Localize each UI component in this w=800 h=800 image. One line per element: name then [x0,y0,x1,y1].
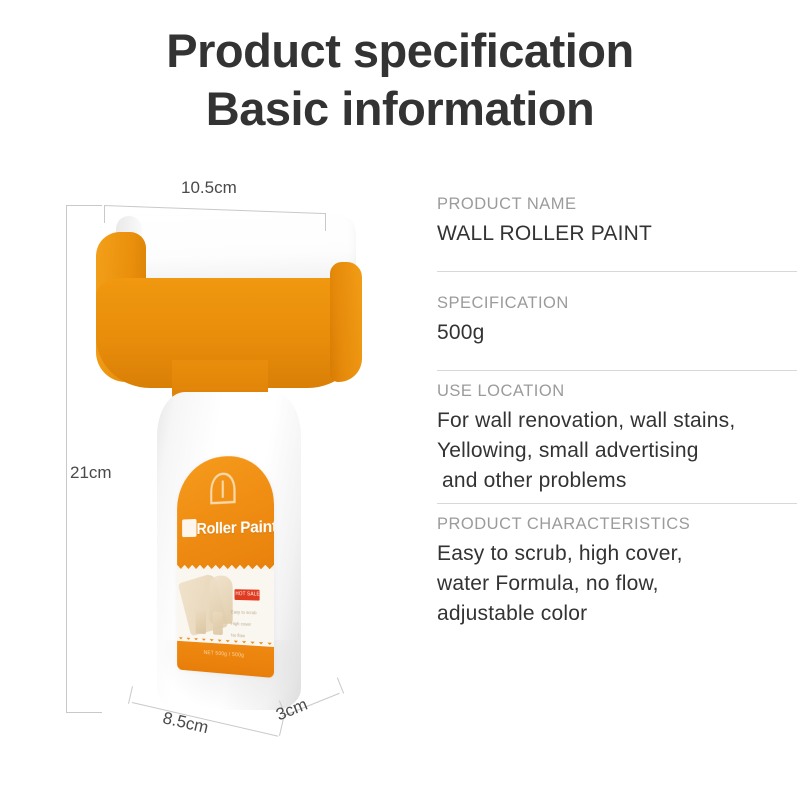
height-dimension-tick-bottom [66,712,102,713]
spec-label-product-characteristics: PRODUCT CHARACTERISTICS [437,513,797,535]
bottle-label: Roller Paint HOT SALE Easy to scrub High… [177,452,274,678]
height-dimension-tick-top [66,205,102,206]
spec-value-line: For wall renovation, wall stains, [437,406,797,436]
spec-value-product-name: WALL ROLLER PAINT [437,219,797,249]
spacer [437,496,797,503]
product-illustration: Roller Paint HOT SALE Easy to scrub High… [0,0,420,800]
spec-value-specification: 500g [437,318,797,348]
spec-value-use-location: For wall renovation, wall stains, Yellow… [437,406,797,496]
spec-label-specification: SPECIFICATION [437,292,797,314]
label-hot-sale-badge-text: HOT SALE [235,590,259,599]
spec-value-line: Yellowing, small advertising [437,436,797,466]
spec-value-line: Easy to scrub, high cover, [437,539,797,569]
spacer [437,504,797,513]
label-illustration-tube-2 [213,612,223,635]
spacer [437,249,797,271]
width-dimension-label: 10.5cm [181,178,237,198]
spec-value-line: 500g [437,318,797,348]
width-dimension-tick-right [325,213,326,231]
spec-row-use-location: USE LOCATION For wall renovation, wall s… [437,380,797,496]
specification-table: PRODUCT NAME WALL ROLLER PAINT SPECIFICA… [437,193,797,629]
spec-row-product-characteristics: PRODUCT CHARACTERISTICS Easy to scrub, h… [437,513,797,629]
roller-frame-lip [330,262,362,382]
height-dimension-label: 21cm [70,463,112,483]
spec-value-line: water Formula, no flow, [437,569,797,599]
product-spec-page: Product specification Basic information [0,0,800,800]
label-product-title: Roller Paint [181,518,274,539]
spacer [437,272,797,292]
label-illustration-tube-1 [196,609,206,634]
spec-value-line: WALL ROLLER PAINT [437,219,797,249]
spec-label-product-name: PRODUCT NAME [437,193,797,215]
brand-logo-icon [204,468,242,509]
spec-row-specification: SPECIFICATION 500g [437,292,797,348]
label-feature-1: Easy to scrub [231,608,266,616]
wall-roller-paint-tool: Roller Paint HOT SALE Easy to scrub High… [0,0,420,800]
spec-row-product-name: PRODUCT NAME WALL ROLLER PAINT [437,193,797,249]
spec-value-line: and other problems [437,466,797,496]
width-dimension-tick-left [104,205,105,223]
spec-value-line: adjustable color [437,599,797,629]
height-dimension-line [66,205,67,713]
spacer [437,371,797,380]
spec-label-use-location: USE LOCATION [437,380,797,402]
spacer [437,348,797,370]
spec-value-product-characteristics: Easy to scrub, high cover, water Formula… [437,539,797,629]
